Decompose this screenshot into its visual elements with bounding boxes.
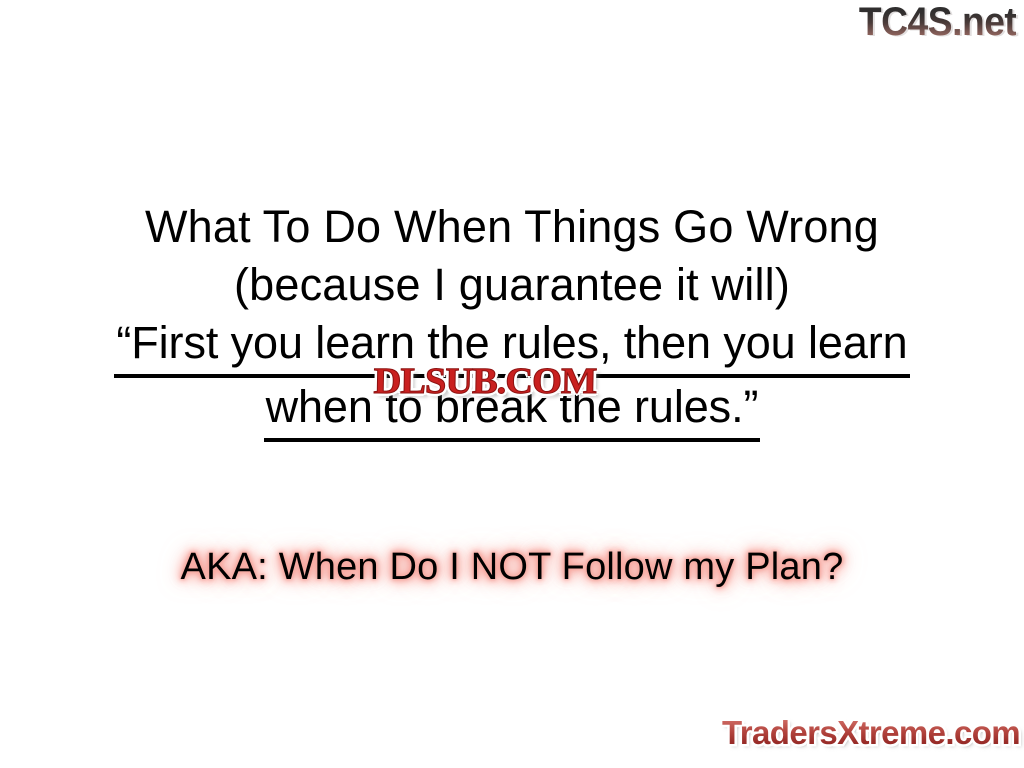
aka-line-container: AKA: When Do I NOT Follow my Plan? [0, 543, 1024, 591]
headline-line-2: (because I guarantee it will) [0, 256, 1024, 314]
dlsub-watermark: DLSUB.COM [373, 362, 596, 402]
slide-body: What To Do When Things Go Wrong (because… [0, 198, 1024, 442]
headline-line-1: What To Do When Things Go Wrong [0, 198, 1024, 256]
slide-canvas: TC4S.net TC4S.net What To Do When Things… [0, 0, 1024, 768]
aka-line-text: AKA: When Do I NOT Follow my Plan? [181, 543, 844, 591]
tradersxtreme-logo: TradersXtreme.com TradersXtreme.com [690, 713, 1020, 753]
tc4s-logo-text: TC4S.net [858, 2, 1016, 42]
tradersxtreme-logo-text: TradersXtreme.com [722, 713, 1020, 753]
